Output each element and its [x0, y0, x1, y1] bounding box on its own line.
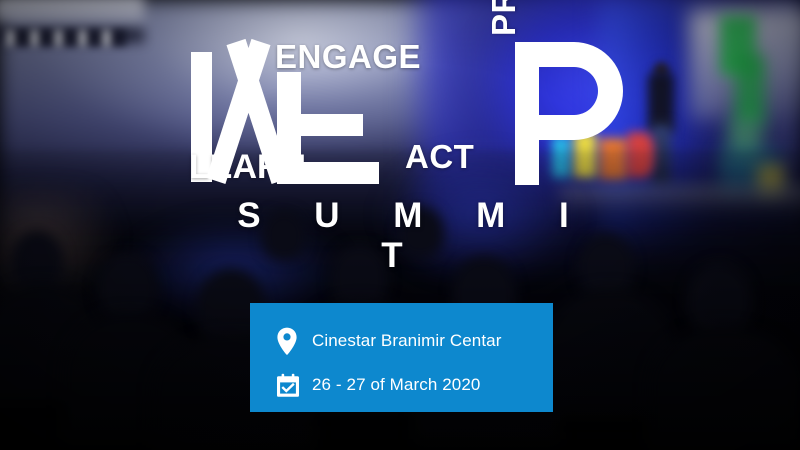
event-info-box: Cinestar Branimir Centar 26 - 27 of Marc… — [250, 303, 553, 412]
map-pin-icon — [276, 327, 312, 355]
event-poster: LEARN ENGAGE ACT PROGRESS S U M M I T — [0, 0, 800, 450]
venue-row: Cinestar Branimir Centar — [276, 319, 553, 363]
dates-text: 26 - 27 of March 2020 — [312, 375, 480, 395]
venue-text: Cinestar Branimir Centar — [312, 331, 501, 351]
calendar-check-icon — [276, 373, 312, 398]
dates-row: 26 - 27 of March 2020 — [276, 363, 553, 407]
